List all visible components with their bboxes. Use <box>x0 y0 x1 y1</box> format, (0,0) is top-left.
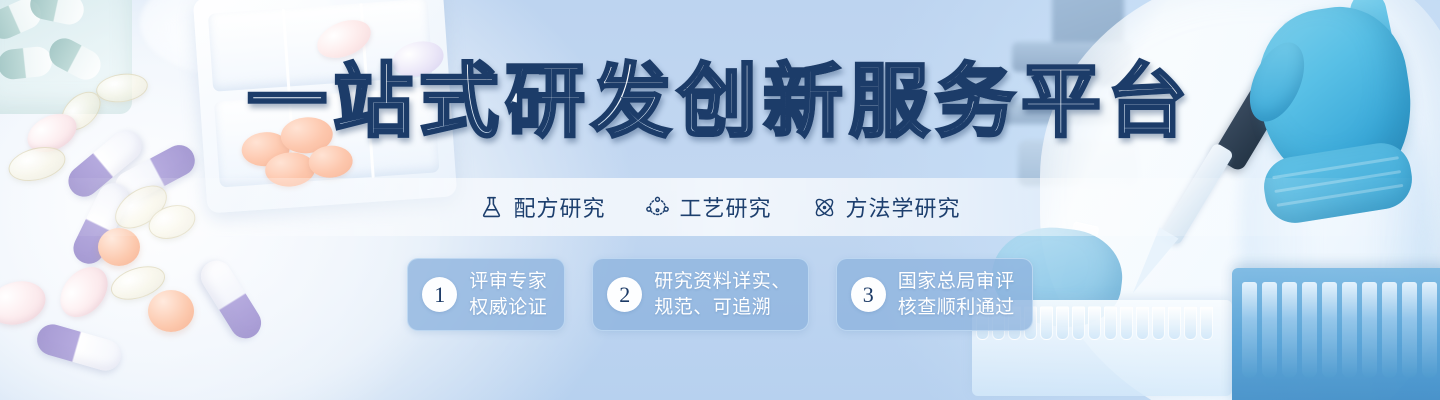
service-label: 配方研究 <box>513 191 605 223</box>
service-item-methodology[interactable]: 方法学研究 <box>812 191 961 223</box>
feature-cards: 1 评审专家 权威论证 2 研究资料详实、 规范、可追溯 3 国家总局审评 核查… <box>0 258 1440 331</box>
page-title: 一站式研发创新服务平台 <box>247 62 1193 142</box>
feature-line-2: 核查顺利通过 <box>898 295 1015 320</box>
title-container: 一站式研发创新服务平台 <box>0 62 1440 142</box>
service-highlight-bar: 配方研究 工艺研究 <box>0 178 1440 236</box>
feature-line-2: 权威论证 <box>469 295 547 320</box>
feature-card-2[interactable]: 2 研究资料详实、 规范、可追溯 <box>592 258 809 331</box>
service-label: 方法学研究 <box>846 191 961 223</box>
feature-card-text: 评审专家 权威论证 <box>469 269 547 319</box>
feature-card-1[interactable]: 1 评审专家 权威论证 <box>407 258 565 331</box>
feature-line-2: 规范、可追溯 <box>654 295 791 320</box>
hero-banner: 一站式研发创新服务平台 配方研究 <box>0 0 1440 400</box>
step-number-badge: 1 <box>422 277 457 312</box>
service-item-process[interactable]: 工艺研究 <box>645 191 771 223</box>
feature-card-text: 研究资料详实、 规范、可追溯 <box>654 269 791 319</box>
atom-icon <box>812 195 837 220</box>
feature-line-1: 国家总局审评 <box>898 271 1015 292</box>
flask-icon <box>479 195 504 220</box>
step-number-badge: 2 <box>607 277 642 312</box>
molecule-icon <box>645 195 670 220</box>
feature-line-1: 研究资料详实、 <box>654 271 791 292</box>
feature-line-1: 评审专家 <box>469 271 547 292</box>
feature-card-3[interactable]: 3 国家总局审评 核查顺利通过 <box>836 258 1033 331</box>
service-item-formulation[interactable]: 配方研究 <box>479 191 605 223</box>
step-number-badge: 3 <box>851 277 886 312</box>
feature-card-text: 国家总局审评 核查顺利通过 <box>898 269 1015 319</box>
service-label: 工艺研究 <box>679 191 771 223</box>
